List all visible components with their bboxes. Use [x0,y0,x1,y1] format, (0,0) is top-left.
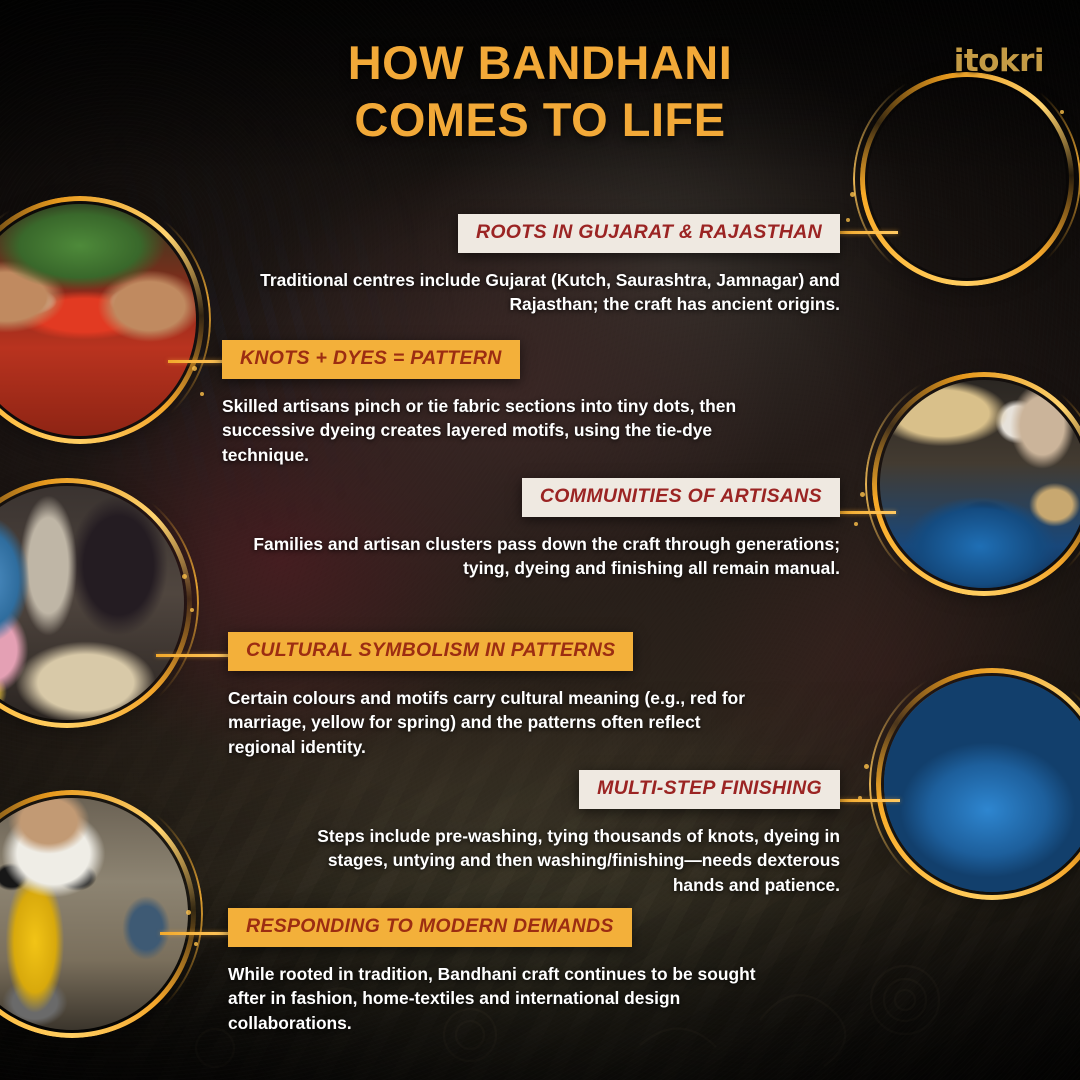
ring-speck [200,392,204,396]
hands-tying-red-fabric-photo [0,196,204,444]
ring-speck [182,574,187,579]
ring-speck [192,366,197,371]
section-label-3[interactable]: COMMUNITIES OF ARTISANS [522,478,840,517]
section-multi-step-finishing: MULTI-STEP FINISHING Steps include pre-w… [310,770,840,898]
section-knots-dyes-pattern: KNOTS + DYES = PATTERN Skilled artisans … [222,340,742,468]
dyer-blue-tub-photo [872,372,1080,596]
section-label-6[interactable]: RESPONDING TO MODERN DEMANDS [228,908,632,947]
yellow-dyed-cloth-photo [0,790,196,1038]
section-body-4: Certain colours and motifs carry cultura… [228,686,768,760]
connector-line-3 [838,511,896,514]
connector-line-4 [156,654,232,657]
ring-speck [186,910,191,915]
artisan-cluster-photo [0,478,192,728]
ring-speck [854,522,858,526]
section-label-5[interactable]: MULTI-STEP FINISHING [579,770,840,809]
section-body-1: Traditional centres include Gujarat (Kut… [228,268,840,317]
section-body-3: Families and artisan clusters pass down … [240,532,840,581]
ring-speck [850,192,855,197]
women-tying-knots-photo [860,72,1074,286]
photo-gold-outer-ring [853,65,1080,293]
section-responding-to-modern-demands: RESPONDING TO MODERN DEMANDS While roote… [228,908,788,1036]
section-body-6: While rooted in tradition, Bandhani craf… [228,962,788,1036]
section-cultural-symbolism-in-patterns: CULTURAL SYMBOLISM IN PATTERNS Certain c… [228,632,768,760]
connector-line-1 [836,231,898,234]
section-label-1[interactable]: ROOTS IN GUJARAT & RAJASTHAN [458,214,840,253]
ring-speck [190,608,194,612]
ring-speck [860,492,865,497]
ring-speck [846,218,850,222]
section-communities-of-artisans: COMMUNITIES OF ARTISANS Families and art… [240,478,840,581]
brand-logo-text: itokri [954,46,1044,77]
brand-logo[interactable]: itokri [954,40,1044,82]
section-label-4[interactable]: CULTURAL SYMBOLISM IN PATTERNS [228,632,633,671]
ring-speck [864,764,869,769]
section-body-2: Skilled artisans pinch or tie fabric sec… [222,394,742,468]
connector-line-5 [838,799,900,802]
section-label-2[interactable]: KNOTS + DYES = PATTERN [222,340,520,379]
connector-line-2 [168,360,230,363]
connector-line-6 [160,932,232,935]
ring-speck [194,942,198,946]
section-roots-in-gujarat-rajasthan: ROOTS IN GUJARAT & RAJASTHAN Traditional… [228,214,840,317]
indigo-vat-photo [876,668,1080,900]
section-body-5: Steps include pre-washing, tying thousan… [310,824,840,898]
ring-speck [1060,110,1064,114]
